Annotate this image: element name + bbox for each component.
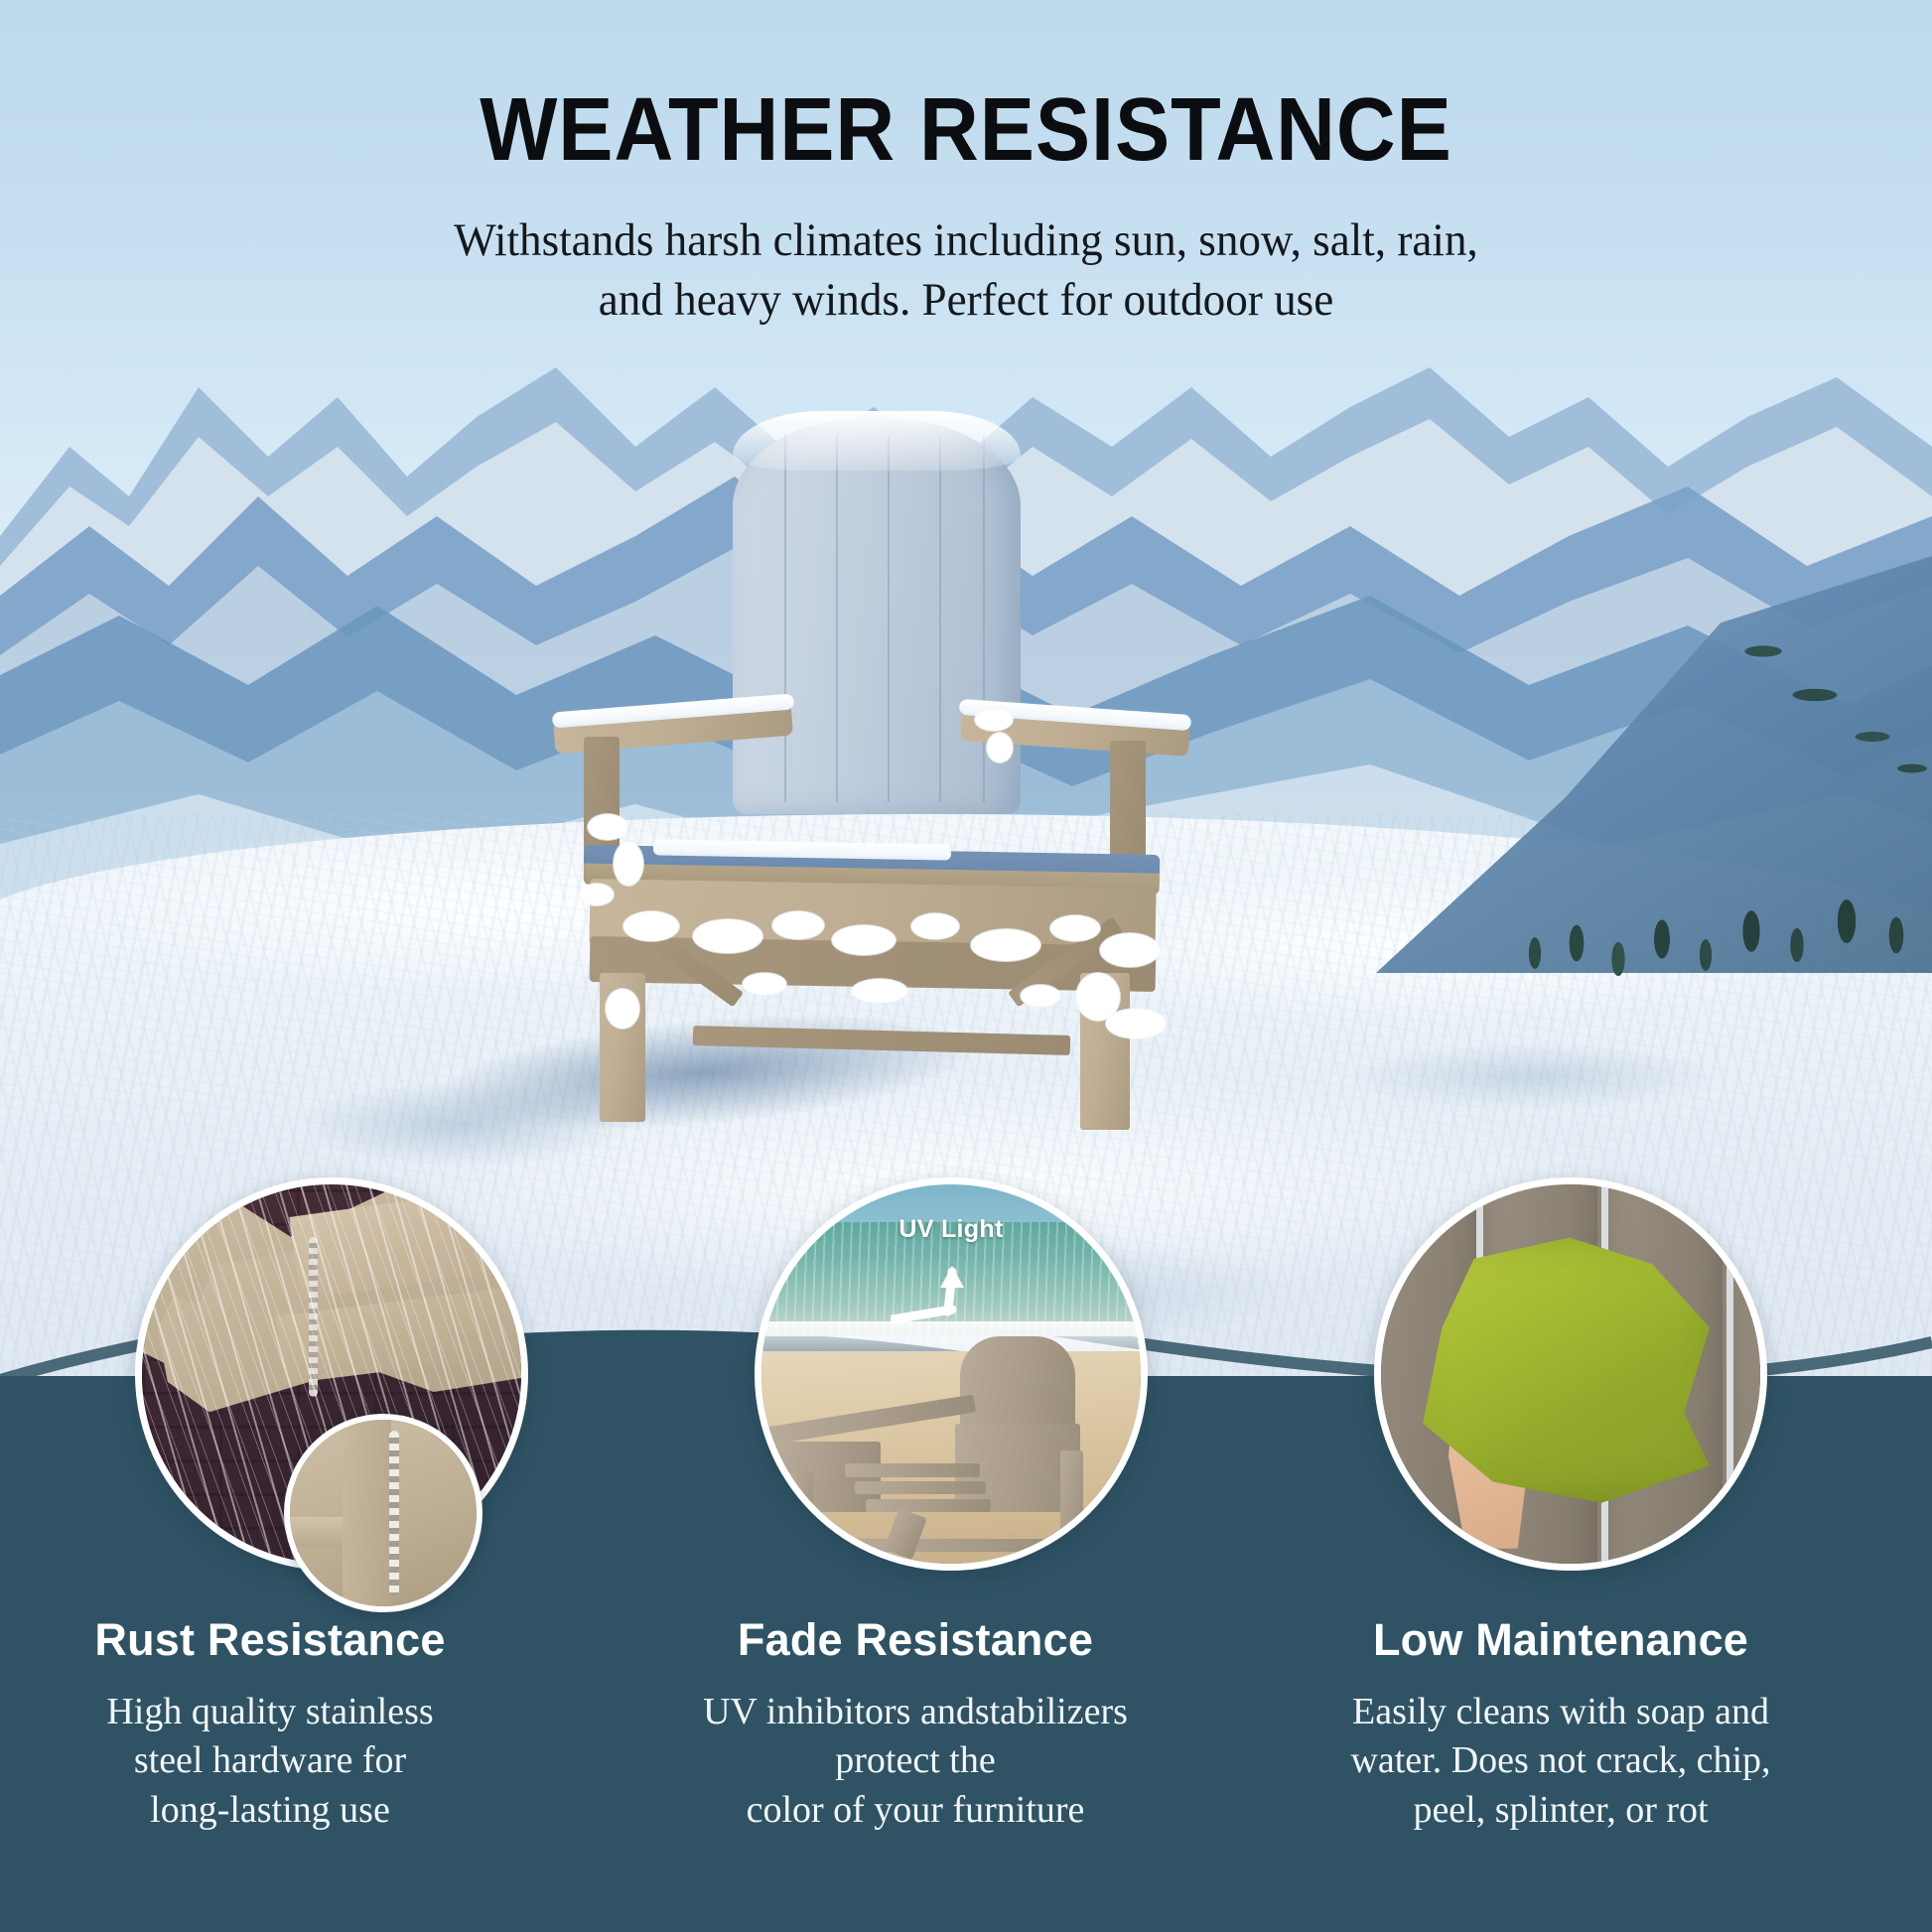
feature-desc-line-2: steel hardware for [12,1736,528,1785]
subtitle-line-1: Withstands harsh climates including sun,… [39,210,1893,270]
feature-title: Rust Resistance [12,1614,528,1666]
infographic-canvas: UV Light [0,0,1932,1932]
feature-title: Low Maintenance [1303,1614,1819,1666]
feature-title: Fade Resistance [657,1614,1173,1666]
inset-post [343,1420,391,1606]
header: WEATHER RESISTANCE Withstands harsh clim… [0,0,1932,330]
feature-image-low-maintenance [1374,1177,1767,1571]
feature-desc-line-3: color of your furniture [657,1786,1173,1835]
feature-description: High quality stainless steel hardware fo… [12,1688,528,1835]
feature-desc-line-1: UV inhibitors andstabilizers [657,1688,1173,1736]
beach-adirondack-chair [876,1336,1126,1557]
feature-desc-line-2: water. Does not crack, chip, [1303,1736,1819,1785]
uv-light-label: UV Light [898,1215,1003,1244]
hardware-closeup-inset [284,1414,483,1612]
page-title: WEATHER RESISTANCE [77,85,1855,175]
feature-text-fade-resistance: Fade Resistance UV inhibitors andstabili… [657,1614,1173,1835]
feature-desc-line-3: long-lasting use [12,1786,528,1835]
feature-desc-line-2: protect the [657,1736,1173,1785]
inset-stainless-chain [389,1431,399,1594]
feature-description: UV inhibitors andstabilizers protect the… [657,1688,1173,1835]
feature-text-low-maintenance: Low Maintenance Easily cleans with soap … [1303,1614,1819,1835]
feature-desc-line-1: Easily cleans with soap and [1303,1688,1819,1736]
feature-text-rust-resistance: Rust Resistance High quality stainless s… [12,1614,528,1835]
feature-description: Easily cleans with soap and water. Does … [1303,1688,1819,1835]
feature-desc-line-1: High quality stainless [12,1688,528,1736]
page-subtitle: Withstands harsh climates including sun,… [39,210,1893,330]
feature-image-fade-resistance: UV Light [755,1177,1148,1571]
feature-desc-line-3: peel, splinter, or rot [1303,1786,1819,1835]
subtitle-line-2: and heavy winds. Perfect for outdoor use [39,270,1893,330]
uv-arrow-icon [891,1264,1000,1333]
